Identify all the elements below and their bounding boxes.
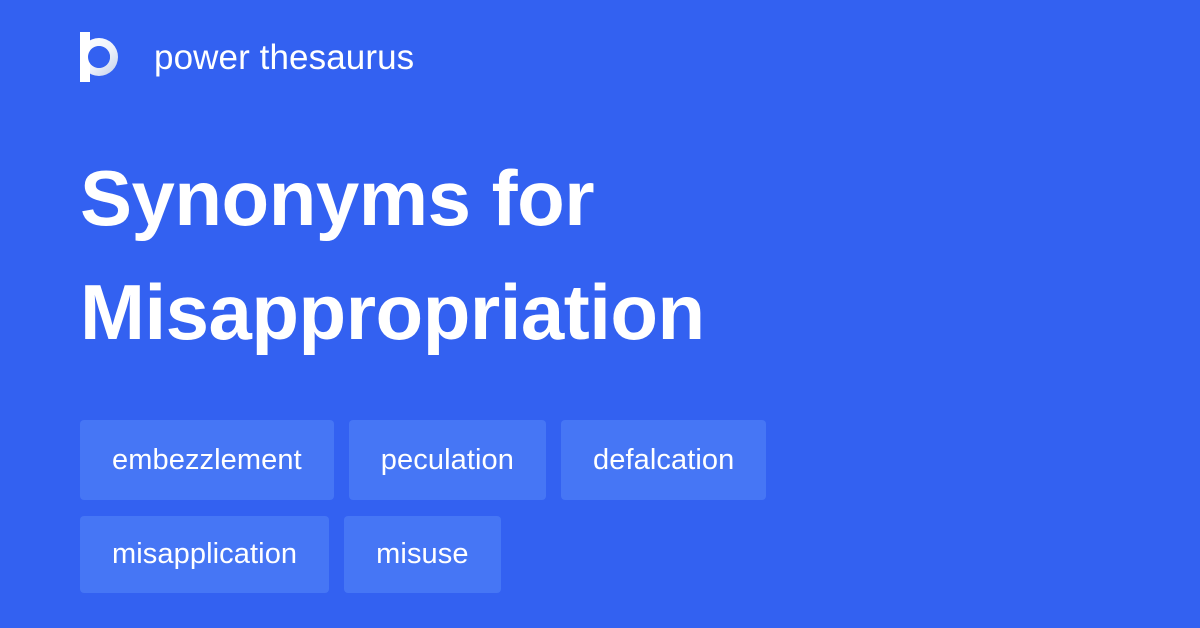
page-title: Synonyms for Misappropriation <box>80 141 1120 369</box>
synonym-tag-row: embezzlement peculation defalcation <box>80 420 1120 500</box>
page-title-line-1: Synonyms for <box>80 141 1120 255</box>
power-thesaurus-b-logo-icon <box>80 32 124 82</box>
synonym-tag[interactable]: peculation <box>349 420 546 500</box>
page-root: power thesaurus Synonyms for Misappropri… <box>0 0 1200 628</box>
synonym-tag[interactable]: misuse <box>344 516 500 593</box>
page-title-line-2: Misappropriation <box>80 255 1120 369</box>
brand-name: power thesaurus <box>154 40 414 75</box>
synonym-tag[interactable]: defalcation <box>561 420 766 500</box>
synonym-tag-row: misapplication misuse <box>80 516 1120 593</box>
synonym-tag-list: embezzlement peculation defalcation misa… <box>80 420 1120 593</box>
synonym-tag[interactable]: misapplication <box>80 516 329 593</box>
brand-logo[interactable]: power thesaurus <box>80 29 414 85</box>
synonym-tag[interactable]: embezzlement <box>80 420 334 500</box>
